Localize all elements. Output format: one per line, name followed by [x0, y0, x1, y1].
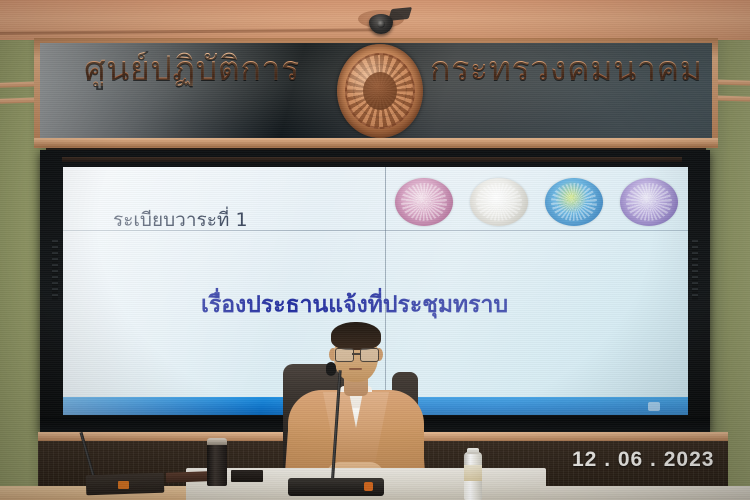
slide-heading: ระเบียบวาระที่ 1 [113, 205, 248, 235]
tumbler-lid [207, 438, 227, 445]
eyeglasses-icon [334, 348, 378, 360]
water-bottle-label [464, 465, 482, 481]
microphone-indicator-light [364, 482, 373, 491]
ministry-emblem-icon [337, 44, 423, 138]
table-surface-right [540, 486, 750, 500]
seal-pink-icon [395, 178, 453, 226]
book-on-table [166, 471, 208, 482]
laptop-logo-icon [118, 481, 129, 489]
slide-seal-row [395, 175, 685, 229]
meeting-room-photo: ศูนย์ปฏิบัติการ กระทรวงคมนาคม ระเบียบวาร… [0, 0, 750, 500]
camera-lens-icon [377, 20, 385, 28]
bezel-top-strip [62, 157, 682, 162]
sign-bottom-rail [34, 138, 718, 147]
lens-right [360, 348, 379, 362]
room-sign-left-text: ศูนย์ปฏิบัติการ [84, 52, 300, 86]
speaker-hair [331, 322, 381, 350]
date-stamp: 12 . 06 . 2023 [572, 448, 714, 472]
microphone-head-icon [326, 362, 336, 376]
seal-purple-icon [620, 178, 678, 226]
lens-left [335, 348, 354, 362]
speaker-mouth [349, 368, 362, 370]
seal-blue-green-icon [545, 178, 603, 226]
glasses-bridge [352, 353, 360, 355]
room-sign-right-text: กระทรวงคมนาคม [430, 52, 703, 86]
bezel-vent-left [52, 240, 58, 300]
nameplate [231, 470, 263, 482]
water-bottle-cap [467, 448, 479, 454]
taskbar-window-icon[interactable] [648, 402, 660, 411]
seal-silver-icon [470, 178, 528, 226]
slide-main-text: เรื่องประธานแจ้งที่ประชุมทราบ [201, 287, 508, 323]
tumbler-cup [207, 443, 227, 486]
bezel-vent-right [692, 240, 698, 300]
